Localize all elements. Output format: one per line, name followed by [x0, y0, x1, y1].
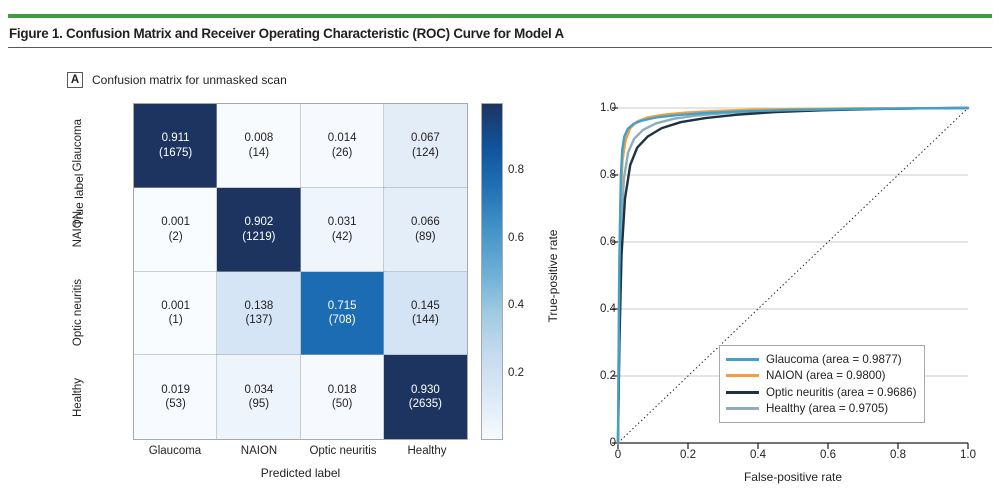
table-row: 0.019 (53): [134, 355, 217, 439]
table-row: 0.145 (144): [384, 272, 467, 356]
table-row: 0.066 (89): [384, 188, 467, 272]
table-row: 0.138 (137): [217, 272, 300, 356]
confusion-matrix-grid: 0.911 (1675) 0.008 (14) 0.014 (26) 0.067…: [133, 103, 468, 440]
legend-label-glaucoma: Glaucoma (area = 0.9877): [766, 353, 902, 366]
table-row: 0.031 (42): [301, 188, 384, 272]
confusion-matrix-x-axis-label: Predicted label: [133, 466, 468, 480]
panel-a-tag: A: [67, 72, 83, 88]
table-row: 0.001 (1): [134, 272, 217, 356]
roc-x-tick-0-2: 0.2: [680, 449, 696, 461]
table-row: 0.018 (50): [301, 355, 384, 439]
table-row: 0.715 (708): [301, 272, 384, 356]
confusion-matrix-x-tick-glaucoma: Glaucoma: [133, 445, 217, 457]
legend-item-glaucoma: Glaucoma (area = 0.9877): [726, 351, 916, 368]
roc-gridlines: [618, 108, 968, 376]
roc-y-tick-0-6: 0.6: [600, 236, 616, 248]
confusion-matrix-x-tick-optic-neuritis: Optic neuritis: [301, 445, 385, 457]
confusion-matrix-y-tick-healthy: Healthy: [0, 355, 84, 439]
legend-swatch-glaucoma: [726, 358, 759, 361]
roc-y-tick-0-8: 0.8: [600, 169, 616, 181]
roc-legend: Glaucoma (area = 0.9877) NAION (area = 0…: [719, 345, 925, 423]
roc-y-tick-0-2: 0.2: [600, 370, 616, 382]
panel-a-confusion-matrix: A Confusion matrix for unmasked scan Tru…: [0, 0, 500, 493]
legend-item-optic-neuritis: Optic neuritis (area = 0.9686): [726, 384, 916, 401]
confusion-matrix-y-tick-optic-neuritis: Optic neuritis: [0, 271, 84, 355]
legend-swatch-healthy: [726, 407, 759, 410]
legend-swatch-naion: [726, 374, 759, 377]
roc-x-axis-label: False-positive rate: [618, 470, 968, 484]
table-row: 0.902 (1219): [217, 188, 300, 272]
confusion-matrix-y-tick-glaucoma: Glaucoma: [0, 103, 84, 187]
roc-y-tick-0-4: 0.4: [600, 303, 616, 315]
roc-x-tick-0: 0: [615, 449, 621, 461]
legend-item-healthy: Healthy (area = 0.9705): [726, 401, 916, 418]
table-row: 0.014 (26): [301, 104, 384, 188]
confusion-matrix-x-tick-healthy: Healthy: [385, 445, 469, 457]
panel-a-title: Confusion matrix for unmasked scan: [92, 73, 287, 87]
roc-y-tick-0: 0: [610, 437, 616, 449]
roc-x-tick-1-0: 1.0: [960, 449, 976, 461]
legend-label-healthy: Healthy (area = 0.9705): [766, 402, 888, 415]
confusion-matrix-x-tick-naion: NAION: [217, 445, 301, 457]
roc-x-tick-0-6: 0.6: [820, 449, 836, 461]
table-row: 0.930 (2635): [384, 355, 467, 439]
roc-x-tick-0-8: 0.8: [890, 449, 906, 461]
roc-y-tick-1-0: 1.0: [600, 102, 616, 114]
legend-swatch-optic-neuritis: [726, 391, 759, 394]
legend-item-naion: NAION (area = 0.9800): [726, 368, 916, 385]
table-row: 0.034 (95): [217, 355, 300, 439]
roc-y-axis-label: True-positive rate: [546, 230, 560, 323]
roc-x-tick-0-4: 0.4: [750, 449, 766, 461]
table-row: 0.008 (14): [217, 104, 300, 188]
table-row: 0.911 (1675): [134, 104, 217, 188]
panel-a-header: A Confusion matrix for unmasked scan: [67, 72, 287, 88]
panel-b-roc-curve: B ROC curve for model A: [500, 0, 1000, 493]
legend-label-naion: NAION (area = 0.9800): [766, 369, 886, 382]
table-row: 0.067 (124): [384, 104, 467, 188]
confusion-matrix-y-tick-naion: NAION: [0, 187, 84, 271]
roc-plot-area: 0 0.2 0.4 0.6 0.8 1.0 0 0.2 0.4 0.6 0.8 …: [618, 108, 968, 443]
legend-label-optic-neuritis: Optic neuritis (area = 0.9686): [766, 386, 916, 399]
table-row: 0.001 (2): [134, 188, 217, 272]
